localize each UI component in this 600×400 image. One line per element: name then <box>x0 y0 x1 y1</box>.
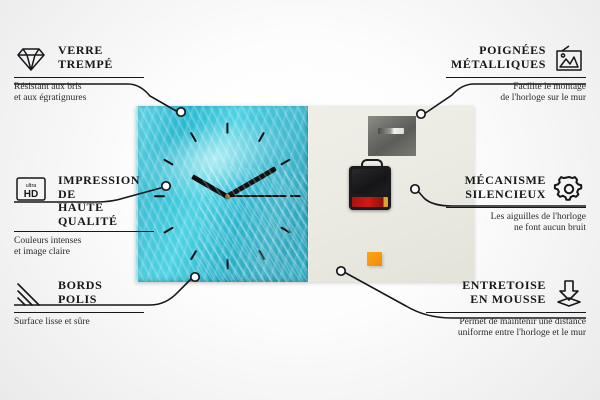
divider <box>14 312 144 313</box>
minute-hand <box>226 166 277 198</box>
ultra-hd-icon: ultra HD <box>14 174 48 204</box>
clock-tick <box>226 258 228 269</box>
feature-title-line2: POLIS <box>58 293 144 307</box>
feature-title-line2: SILENCIEUX <box>446 188 546 202</box>
feature-verre-trempe: VERRE TREMPÉ Résistant aux bris et aux é… <box>14 44 144 104</box>
feature-desc-line1: Les aiguilles de l'horloge <box>446 212 586 223</box>
divider <box>14 231 154 232</box>
battery <box>352 197 388 207</box>
diamond-icon <box>14 44 48 74</box>
feature-title-line2: EN MOUSSE <box>426 293 546 307</box>
feature-desc-line2: de l'horloge sur le mur <box>446 93 586 104</box>
feature-desc-line1: Résistant aux bris <box>14 82 144 93</box>
feature-title-line1: MÉCANISME <box>446 174 546 188</box>
clock-tick <box>257 250 264 261</box>
second-hand <box>227 195 287 197</box>
clock-tick <box>281 226 292 233</box>
gear-icon <box>552 174 586 204</box>
clock-hub <box>225 194 230 199</box>
product-photo <box>136 106 474 282</box>
divider <box>446 77 586 78</box>
polished-edge-icon <box>14 279 48 309</box>
feature-desc-line2: et aux égratignures <box>14 93 144 104</box>
divider <box>446 207 586 208</box>
infographic-canvas: VERRE TREMPÉ Résistant aux bris et aux é… <box>0 0 600 400</box>
feature-desc-line1: Surface lisse et sûre <box>14 317 144 328</box>
movement-body <box>352 169 388 194</box>
feature-desc-line1: Facilite le montage <box>446 82 586 93</box>
framed-picture-hook-icon <box>552 44 586 74</box>
hanger-slot <box>378 128 404 134</box>
feature-title-line2: MÉTALLIQUES <box>446 58 546 72</box>
foam-spacer-arrow-icon <box>552 279 586 309</box>
divider <box>426 312 586 313</box>
feature-impression-haute-qualite: ultra HD IMPRESSION DE HAUTE QUALITÉ Cou… <box>14 174 154 258</box>
feature-title-line1: BORDS <box>58 279 144 293</box>
feature-entretoise-en-mousse: ENTRETOISE EN MOUSSE Permet de maintenir… <box>426 279 586 339</box>
feature-title-line2: HAUTE QUALITÉ <box>58 201 154 228</box>
feature-bords-polis: BORDS POLIS Surface lisse et sûre <box>14 279 144 328</box>
feature-desc-line2: et image claire <box>14 247 154 258</box>
feature-poignees-metalliques: POIGNÉES MÉTALLIQUES Facilite le montage… <box>446 44 586 104</box>
tempered-glass-edge <box>136 106 308 282</box>
feature-desc-line2: uniforme entre l'horloge et le mur <box>426 328 586 339</box>
feature-mecanisme-silencieux: MÉCANISME SILENCIEUX Les aiguilles de l'… <box>446 174 586 234</box>
feature-title-line1: POIGNÉES <box>446 44 546 58</box>
metal-hanger-plate <box>368 116 416 156</box>
divider <box>14 77 144 78</box>
feature-title-line1: IMPRESSION DE <box>58 174 154 201</box>
clock-front-face <box>136 106 308 282</box>
feature-title-line1: ENTRETOISE <box>426 279 546 293</box>
feature-desc-line1: Permet de maintenir une distance <box>426 317 586 328</box>
feature-title-line2: TREMPÉ <box>58 58 144 72</box>
feature-title-line1: VERRE <box>58 44 144 58</box>
foam-spacer <box>367 252 382 266</box>
clock-tick <box>290 195 301 197</box>
feature-desc-line2: ne font aucun bruit <box>446 223 586 234</box>
clock-movement <box>349 166 391 210</box>
feature-desc-line1: Couleurs intenses <box>14 236 154 247</box>
svg-text:HD: HD <box>24 189 38 200</box>
